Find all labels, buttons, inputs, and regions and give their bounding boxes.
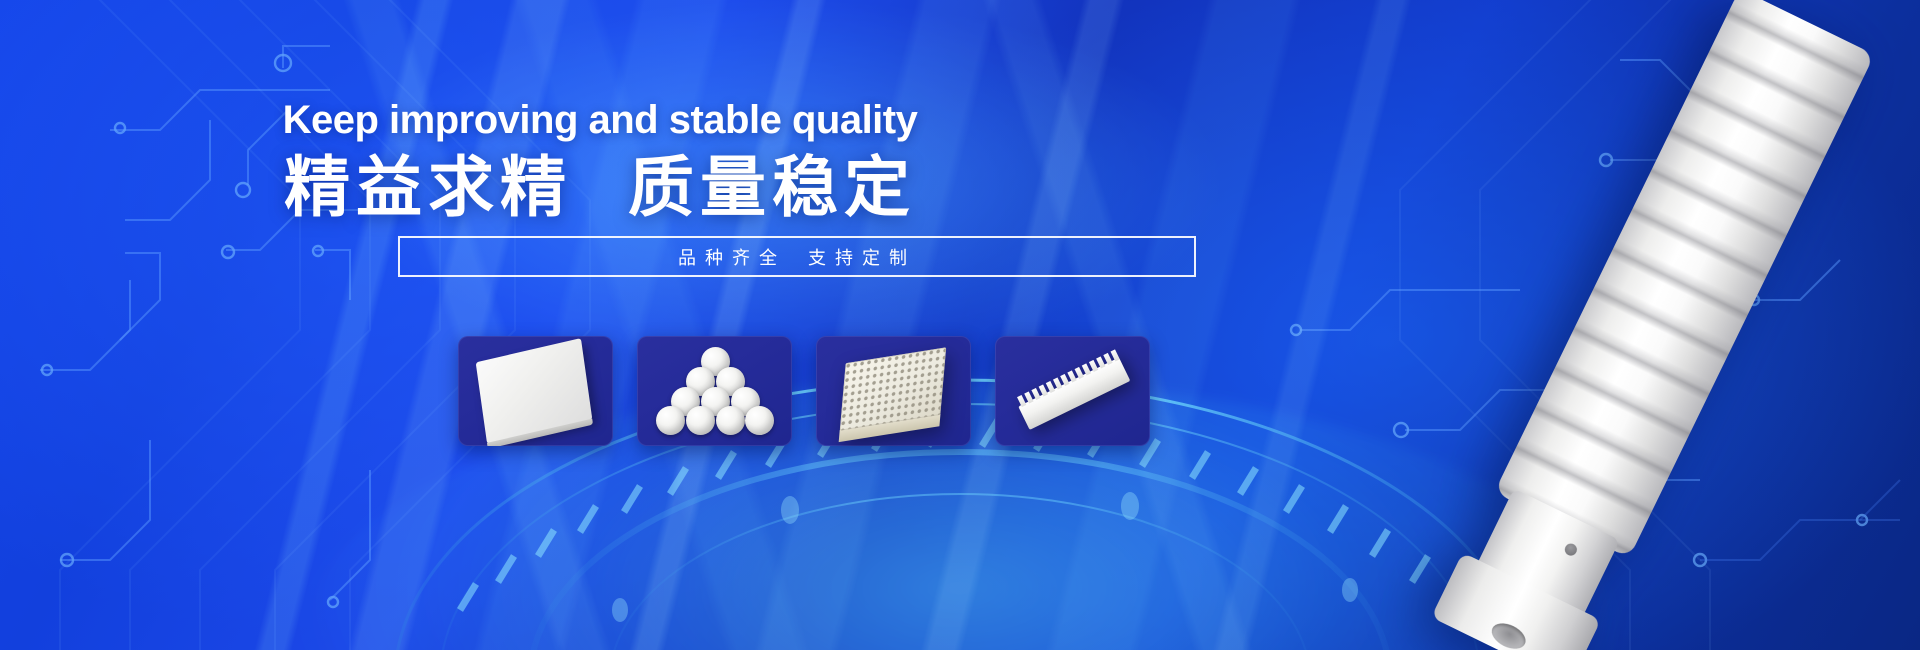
ceramic-ball-stack-image [637, 336, 792, 446]
subheadline-chinese: 品种齐全支持定制 [398, 236, 1196, 277]
headline-chinese: 精益求精质量稳定 [0, 150, 1200, 226]
promotional-banner: Keep improving and stable quality 精益求精质量… [0, 0, 1920, 650]
headline-chinese-part1: 精益求精 [284, 150, 572, 224]
product-thumbnail-row [458, 336, 1150, 446]
product-card-honeycomb-block[interactable] [816, 336, 971, 446]
product-card-ceramic-tile[interactable] [458, 336, 613, 446]
product-card-ceramic-comb[interactable] [995, 336, 1150, 446]
product-card-ceramic-balls[interactable] [637, 336, 792, 446]
ceramic-toothed-bar-image [995, 336, 1150, 446]
honeycomb-ceramic-image [816, 336, 971, 446]
ceramic-flat-tile-image [458, 336, 613, 446]
subheadline-part1: 品种齐全 [678, 244, 786, 270]
comb-tooth [1017, 395, 1026, 407]
subheadline-part2: 支持定制 [808, 244, 916, 270]
headline-english: Keep improving and stable quality [0, 100, 1200, 140]
headline-chinese-part2: 质量稳定 [628, 150, 916, 224]
